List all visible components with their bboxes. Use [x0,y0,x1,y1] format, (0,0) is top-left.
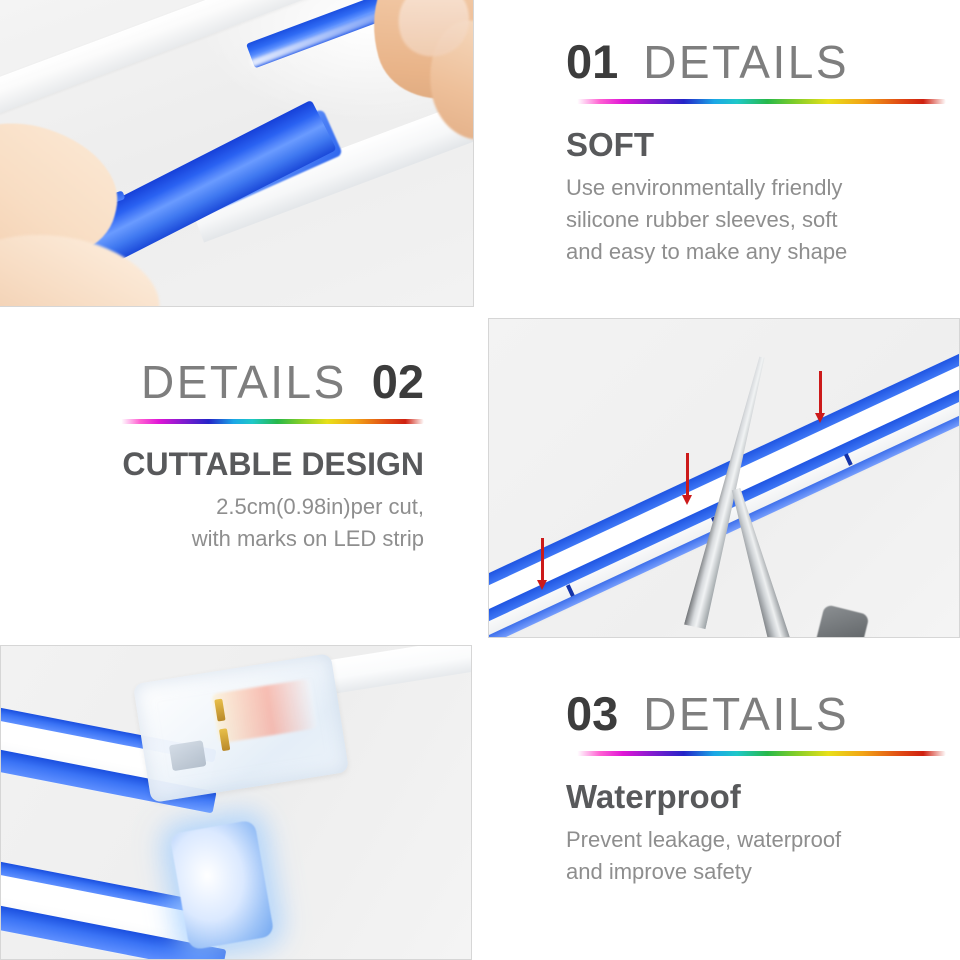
section-text-soft: 01 DETAILS SOFT Use environmentally frie… [566,38,946,268]
section-body-line: with marks on LED strip [26,523,424,555]
section-number: 01 [566,35,618,88]
details-label: DETAILS [141,356,347,408]
rainbow-divider [566,99,946,104]
headline-cuttable: DETAILS 02 [26,358,424,405]
headline-waterproof: 03 DETAILS [566,690,946,737]
section-body-line: Prevent leakage, waterproof [566,824,946,856]
product-infographic: 01 DETAILS SOFT Use environmentally frie… [0,0,960,960]
photo-panel-cuttable [488,318,960,638]
section-number: 02 [372,355,424,408]
section-body-line: 2.5cm(0.98in)per cut, [26,491,424,523]
headline-soft: 01 DETAILS [566,38,946,85]
section-number: 03 [566,687,618,740]
rainbow-divider [566,751,946,756]
rainbow-divider [112,419,424,424]
section-body-line: and improve safety [566,856,946,888]
photo-panel-waterproof [0,645,472,960]
section-body-line: Use environmentally friendly [566,172,946,204]
section-subtitle: CUTTABLE DESIGN [26,446,424,483]
details-label: DETAILS [643,36,849,88]
section-text-cuttable: DETAILS 02 CUTTABLE DESIGN 2.5cm(0.98in)… [26,358,424,555]
section-text-waterproof: 03 DETAILS Waterproof Prevent leakage, w… [566,690,946,888]
section-subtitle: Waterproof [566,778,946,816]
section-body-line: silicone rubber sleeves, soft [566,204,946,236]
section-body-line: and easy to make any shape [566,236,946,268]
connector-slot [169,740,207,771]
photo-panel-soft [0,0,474,307]
details-label: DETAILS [643,688,849,740]
section-subtitle: SOFT [566,126,946,164]
